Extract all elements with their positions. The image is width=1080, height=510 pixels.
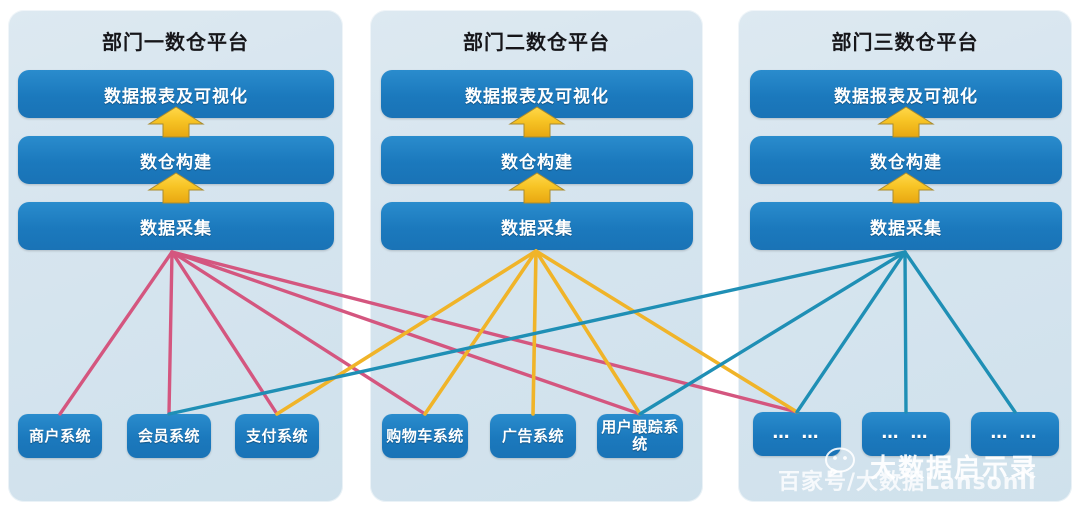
source-box-dept2-cart[interactable]: 购物车系统 [382, 414, 468, 458]
source-box-dept1-merchant[interactable]: 商户系统 [18, 414, 102, 458]
source-box-dept2-user-tracking[interactable]: 用户跟踪系统 [597, 414, 683, 458]
panel-title-dept-2: 部门二数仓平台 [370, 26, 703, 55]
layer-box-dept2-reporting[interactable]: 数据报表及可视化 [381, 70, 693, 118]
watermark-wechat-account: 大数据启示录 [870, 448, 1038, 485]
layer-box-dept1-reporting[interactable]: 数据报表及可视化 [18, 70, 334, 118]
panel-title-dept-1: 部门一数仓平台 [8, 26, 343, 55]
layer-box-dept1-warehouse[interactable]: 数仓构建 [18, 136, 334, 184]
source-box-dept1-member[interactable]: 会员系统 [127, 414, 211, 458]
source-box-dept2-ads[interactable]: 广告系统 [490, 414, 576, 458]
layer-box-dept3-reporting[interactable]: 数据报表及可视化 [750, 70, 1062, 118]
layer-box-dept2-warehouse[interactable]: 数仓构建 [381, 136, 693, 184]
layer-box-dept3-warehouse[interactable]: 数仓构建 [750, 136, 1062, 184]
panel-title-dept-3: 部门三数仓平台 [738, 26, 1072, 55]
diagram-canvas: 部门一数仓平台 数据报表及可视化 数仓构建 数据采集 商户系统 会员系统 支付系… [0, 0, 1080, 510]
layer-box-dept3-ingestion[interactable]: 数据采集 [750, 202, 1062, 250]
wechat-icon [824, 446, 866, 480]
layer-box-dept1-ingestion[interactable]: 数据采集 [18, 202, 334, 250]
layer-box-dept2-ingestion[interactable]: 数据采集 [381, 202, 693, 250]
source-box-dept1-payment[interactable]: 支付系统 [235, 414, 319, 458]
